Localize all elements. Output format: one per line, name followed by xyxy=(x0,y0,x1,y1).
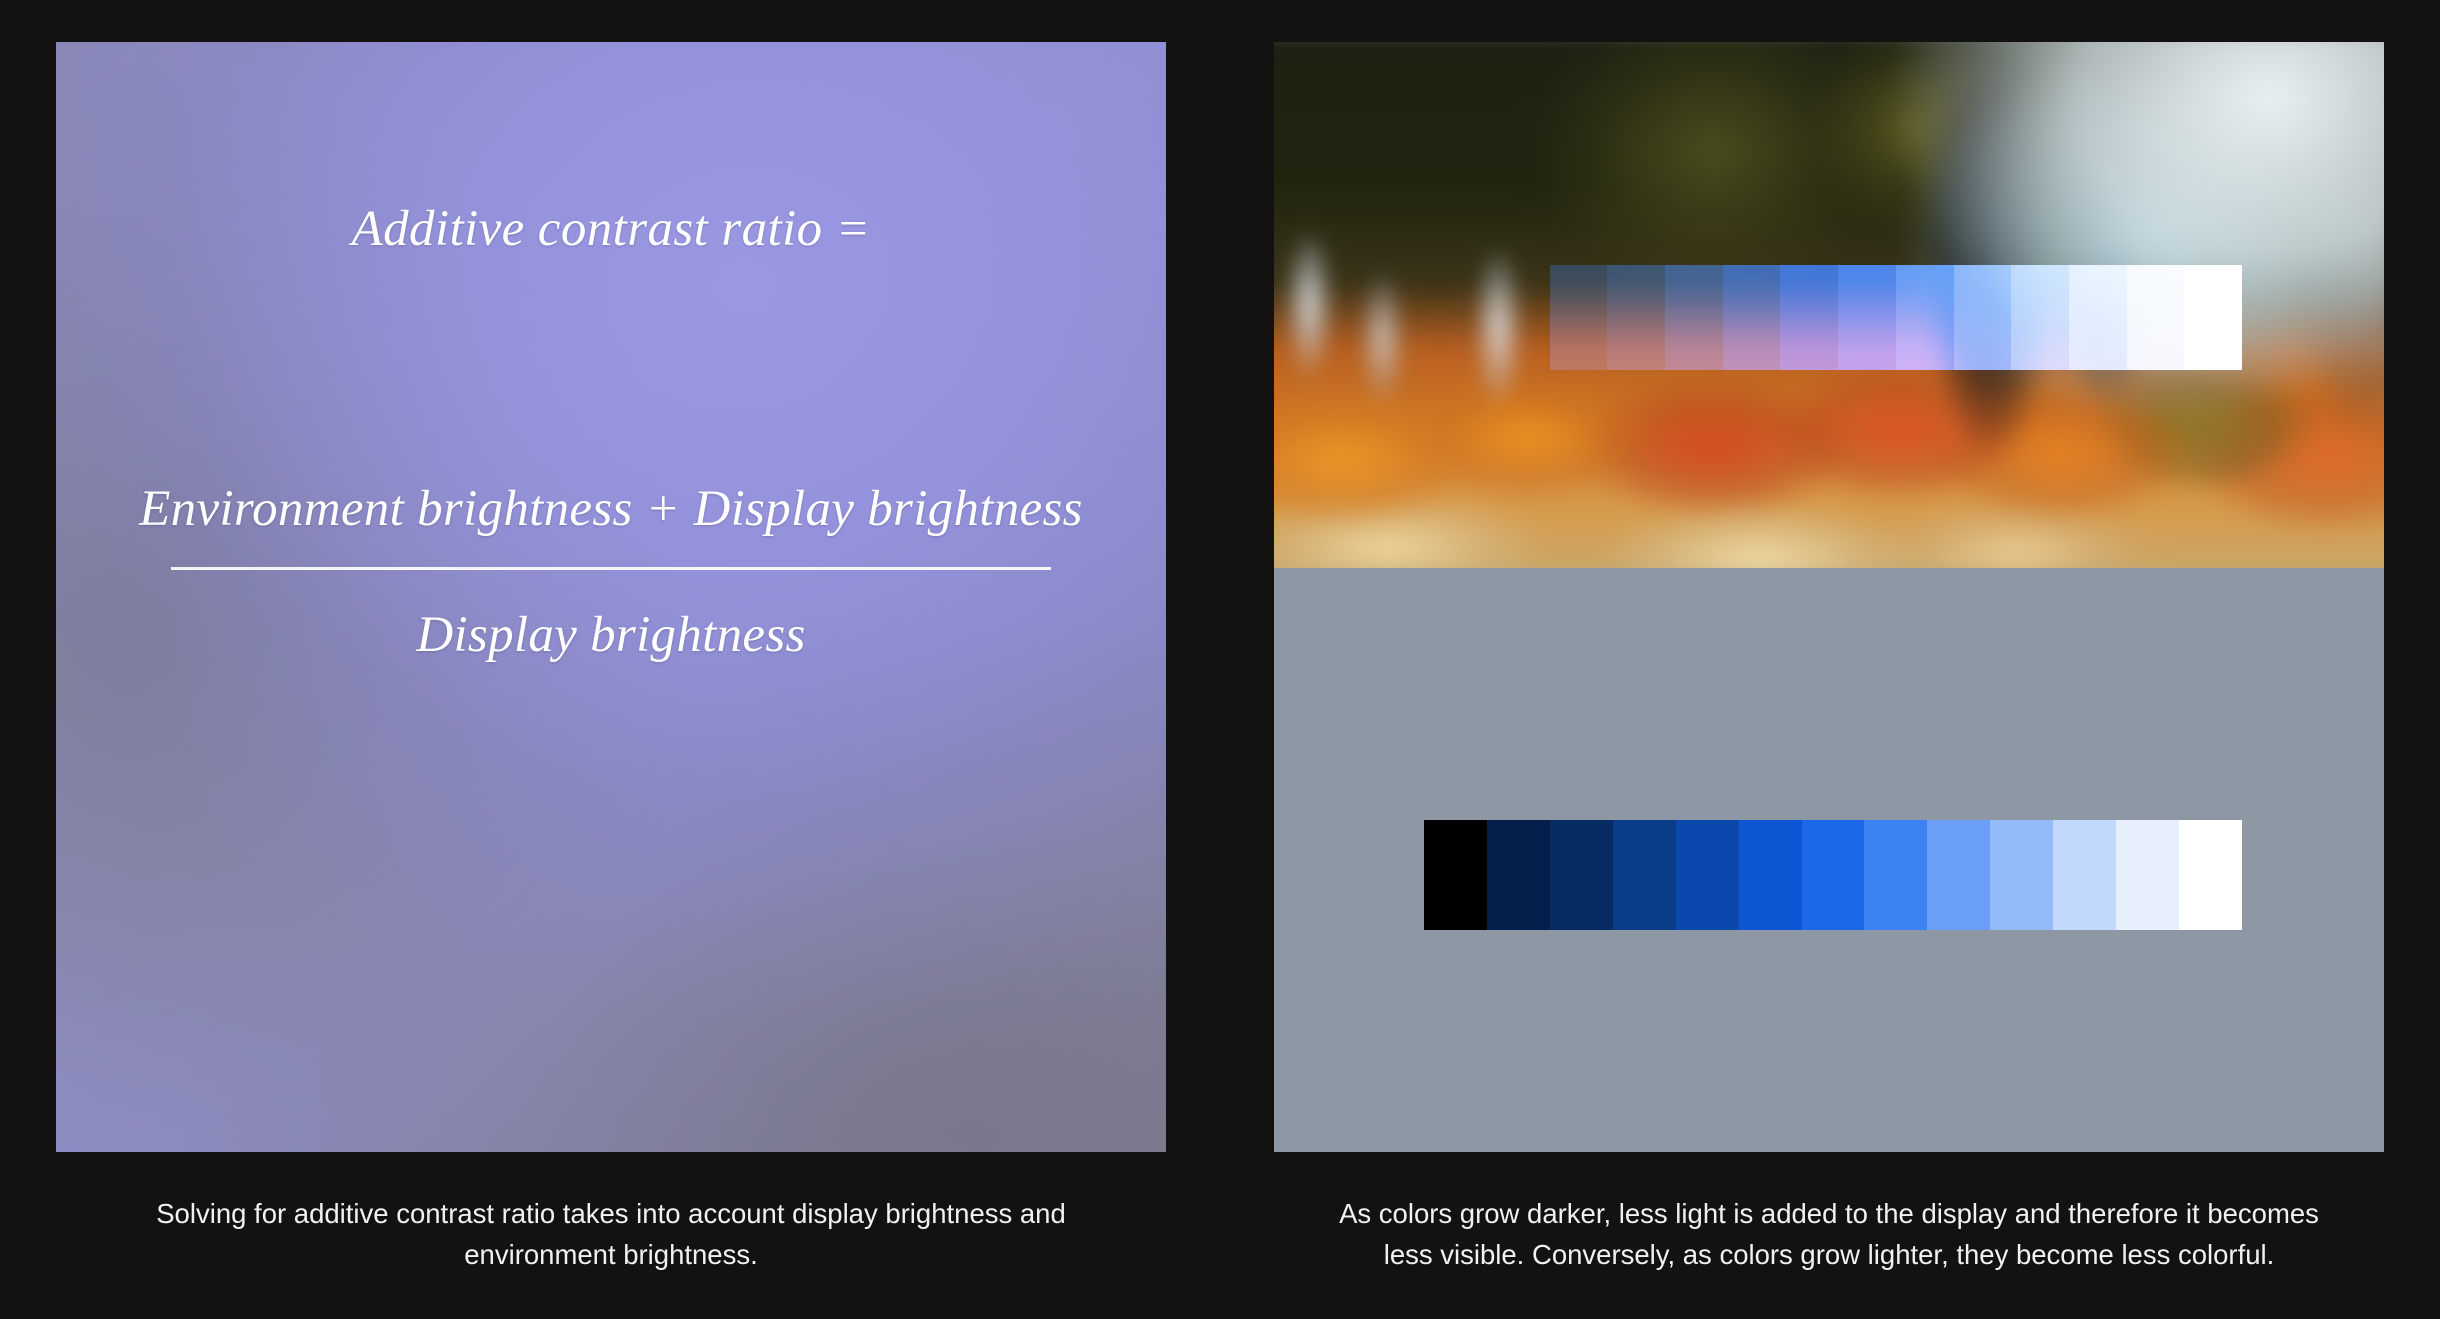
color-swatch xyxy=(2127,265,2185,370)
color-swatch xyxy=(1990,820,2053,930)
fraction-bar xyxy=(171,567,1051,570)
figure-additive-contrast-ratio: Additive contrast ratio = Environment br… xyxy=(56,42,1166,1275)
color-swatch xyxy=(1487,820,1550,930)
color-swatch xyxy=(1723,265,1781,370)
color-swatch xyxy=(1550,265,1608,370)
overlay-color-ramp xyxy=(1492,265,2242,370)
color-swatch xyxy=(2116,820,2179,930)
color-swatch xyxy=(1927,820,1990,930)
color-swatch xyxy=(1838,265,1896,370)
color-swatch xyxy=(1896,265,1954,370)
figure-grid: Additive contrast ratio = Environment br… xyxy=(0,0,2440,1319)
color-swatch xyxy=(1739,820,1802,930)
color-swatch xyxy=(1613,820,1676,930)
color-swatch xyxy=(1802,820,1865,930)
color-swatch xyxy=(1665,265,1723,370)
color-swatch xyxy=(2184,265,2242,370)
left-figure-caption: Solving for additive contrast ratio take… xyxy=(106,1194,1116,1275)
plain-color-ramp xyxy=(1424,820,2242,930)
fraction-numerator: Environment brightness + Display brightn… xyxy=(56,480,1166,539)
fraction-denominator: Display brightness xyxy=(56,606,1166,665)
right-figure-caption: As colors grow darker, less light is add… xyxy=(1324,1194,2334,1275)
photo-panel xyxy=(1274,42,2384,1152)
color-swatch xyxy=(2179,820,2242,930)
formula-panel: Additive contrast ratio = Environment br… xyxy=(56,42,1166,1152)
figure-color-ramp: As colors grow darker, less light is add… xyxy=(1274,42,2384,1275)
color-swatch xyxy=(1492,265,1550,370)
formula-fraction: Environment brightness + Display brightn… xyxy=(56,480,1166,664)
color-swatch xyxy=(1954,265,2012,370)
formula-heading: Additive contrast ratio = xyxy=(56,200,1166,258)
color-swatch xyxy=(2011,265,2069,370)
color-swatch xyxy=(1424,820,1487,930)
color-swatch xyxy=(1864,820,1927,930)
color-swatch xyxy=(2069,265,2127,370)
color-swatch xyxy=(1607,265,1665,370)
color-swatch xyxy=(2053,820,2116,930)
color-swatch xyxy=(1676,820,1739,930)
color-swatch xyxy=(1780,265,1838,370)
color-swatch xyxy=(1550,820,1613,930)
